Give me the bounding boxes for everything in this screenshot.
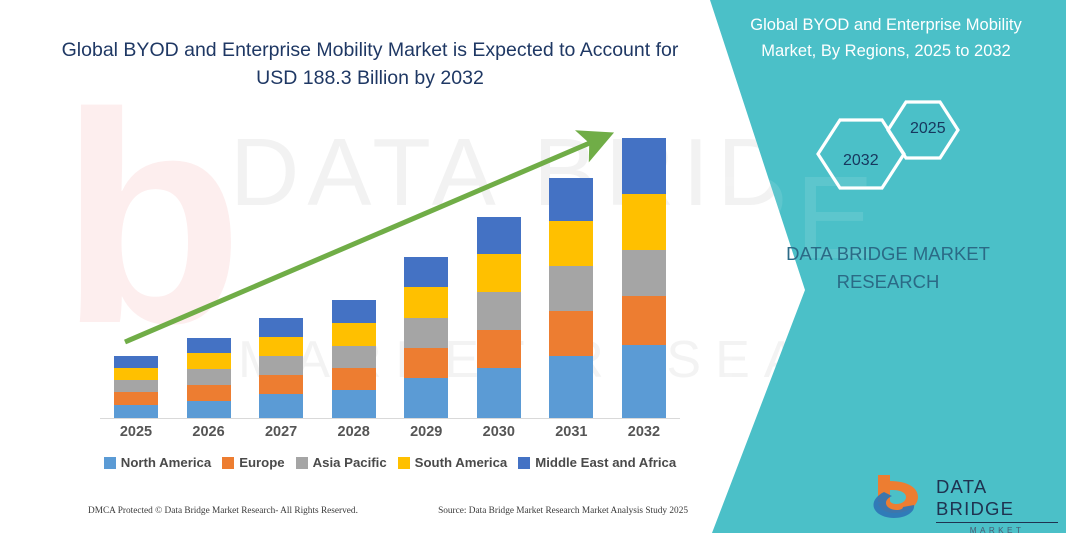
infographic-root: b DATA BRIDGE MARKET RESEARCH Global BYO…	[0, 0, 1066, 533]
x-axis-label: 2028	[318, 424, 390, 440]
legend-item[interactable]: Asia Pacific	[296, 455, 387, 470]
legend-swatch-icon	[518, 457, 530, 469]
legend-swatch-icon	[398, 457, 410, 469]
legend-label: Europe	[239, 455, 284, 470]
chart-legend: North AmericaEuropeAsia PacificSouth Ame…	[90, 455, 690, 470]
logo-text: DATA BRIDGE MARKET RESEARCH	[936, 476, 1058, 533]
legend-swatch-icon	[222, 457, 234, 469]
x-axis-label: 2032	[608, 424, 680, 440]
legend-item[interactable]: Middle East and Africa	[518, 455, 676, 470]
hexagon-group: 2032 2025	[810, 92, 1010, 212]
legend-item[interactable]: Europe	[222, 455, 284, 470]
logo-secondary-text: MARKET RESEARCH	[936, 526, 1058, 533]
hexagon-2032-label: 2032	[843, 152, 879, 170]
panel-title: Global BYOD and Enterprise Mobility Mark…	[726, 12, 1046, 64]
data-bridge-logo: DATA BRIDGE MARKET RESEARCH	[868, 472, 1058, 524]
legend-swatch-icon	[296, 457, 308, 469]
hexagon-shapes	[810, 92, 1010, 212]
footer-copyright: DMCA Protected © Data Bridge Market Rese…	[88, 506, 358, 516]
x-axis-label: 2027	[245, 424, 317, 440]
chart-pane: Global BYOD and Enterprise Mobility Mark…	[0, 0, 760, 533]
legend-swatch-icon	[104, 457, 116, 469]
legend-label: Asia Pacific	[313, 455, 387, 470]
x-axis-label: 2031	[535, 424, 607, 440]
x-axis-label: 2025	[100, 424, 172, 440]
legend-item[interactable]: North America	[104, 455, 211, 470]
logo-mark-icon	[868, 472, 930, 522]
chart-title: Global BYOD and Enterprise Mobility Mark…	[60, 36, 680, 92]
trend-arrow	[100, 110, 680, 430]
x-axis-labels: 20252026202720282029203020312032	[100, 424, 680, 440]
x-axis-label: 2026	[173, 424, 245, 440]
footer: DMCA Protected © Data Bridge Market Rese…	[88, 506, 688, 516]
legend-label: North America	[121, 455, 211, 470]
brand-name: DATA BRIDGE MARKET RESEARCH	[738, 240, 1038, 296]
x-axis-label: 2030	[463, 424, 535, 440]
legend-item[interactable]: South America	[398, 455, 508, 470]
legend-label: Middle East and Africa	[535, 455, 676, 470]
footer-source: Source: Data Bridge Market Research Mark…	[438, 506, 688, 516]
hexagon-2025-label: 2025	[910, 120, 946, 138]
logo-primary-text: DATA BRIDGE	[936, 476, 1058, 523]
x-axis-label: 2029	[390, 424, 462, 440]
legend-label: South America	[415, 455, 508, 470]
